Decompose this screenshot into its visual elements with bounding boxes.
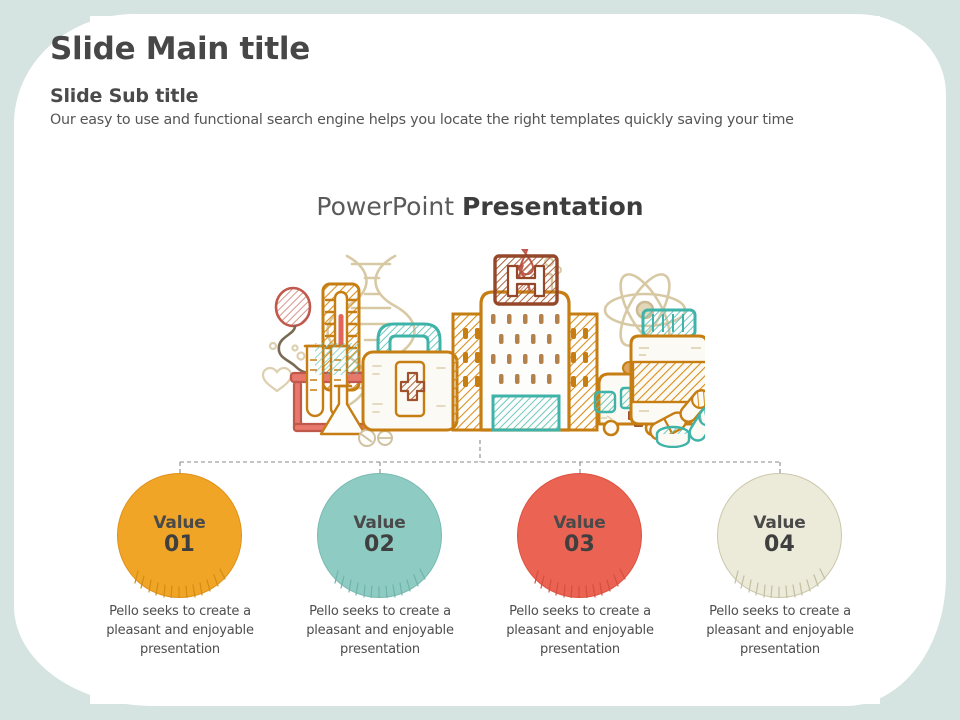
- value-node-circle-1[interactable]: Value 01: [117, 473, 242, 598]
- first-aid-kit-icon: [363, 324, 457, 430]
- page-subtitle: Slide Sub title: [50, 85, 198, 107]
- value-node-caption-4: Pello seeks to create a pleasant and enj…: [680, 603, 880, 660]
- medical-illustration: [255, 248, 705, 448]
- value-node-circle-4[interactable]: Value 04: [717, 473, 842, 598]
- illustration-heading: PowerPoint Presentation: [0, 192, 960, 221]
- value-node-label-2: Value: [353, 514, 405, 533]
- hospital-building-icon: [453, 256, 597, 430]
- value-node-label-1: Value: [153, 514, 205, 533]
- page-title: Slide Main title: [50, 31, 310, 67]
- value-node-label-4: Value: [753, 514, 805, 533]
- value-node-3[interactable]: Value 03: [517, 473, 642, 598]
- value-node-circle-3[interactable]: Value 03: [517, 473, 642, 598]
- value-node-row: Value 01 Value: [0, 473, 960, 598]
- value-node-caption-1: Pello seeks to create a pleasant and enj…: [80, 603, 280, 660]
- value-node-circle-2[interactable]: Value 02: [317, 473, 442, 598]
- value-node-number-2: 02: [364, 533, 395, 558]
- value-node-4[interactable]: Value 04: [717, 473, 842, 598]
- value-node-label-3: Value: [553, 514, 605, 533]
- page-description: Our easy to use and functional search en…: [50, 112, 794, 128]
- value-node-number-1: 01: [164, 533, 195, 558]
- slide-canvas: Slide Main title Slide Sub title Our eas…: [0, 0, 960, 720]
- medical-illustration-svg: [255, 248, 705, 448]
- illustration-heading-bold: Presentation: [462, 192, 644, 221]
- value-node-number-4: 04: [764, 533, 795, 558]
- value-node-caption-2: Pello seeks to create a pleasant and enj…: [280, 603, 480, 660]
- value-node-number-3: 03: [564, 533, 595, 558]
- value-node-2[interactable]: Value 02: [317, 473, 442, 598]
- value-node-1[interactable]: Value 01: [117, 473, 242, 598]
- illustration-heading-light: PowerPoint: [316, 192, 462, 221]
- slide-content: Slide Main title Slide Sub title Our eas…: [0, 0, 960, 720]
- flask-icon: [321, 386, 365, 434]
- value-node-caption-3: Pello seeks to create a pleasant and enj…: [480, 603, 680, 660]
